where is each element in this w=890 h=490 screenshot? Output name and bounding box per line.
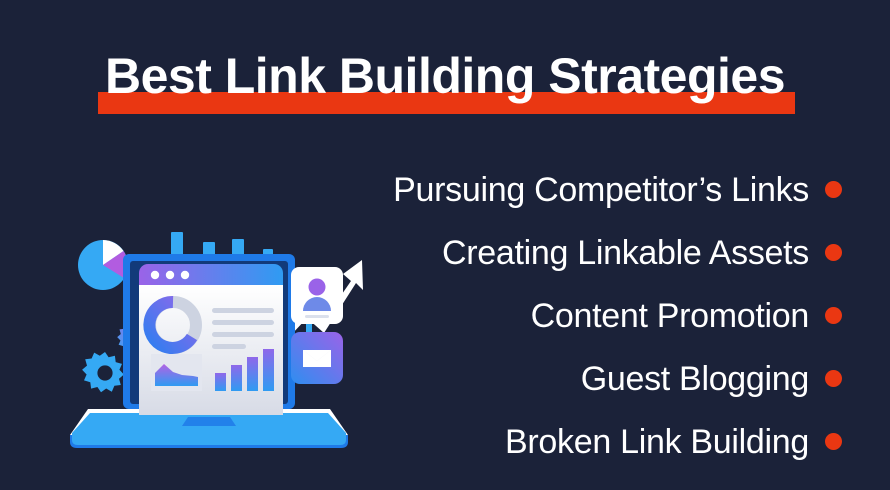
bullet-dot-icon xyxy=(825,181,842,198)
page-title: Best Link Building Strategies xyxy=(0,44,890,108)
strategy-label: Pursuing Competitor’s Links xyxy=(393,173,809,207)
strategy-label: Guest Blogging xyxy=(581,362,809,396)
bullet-dot-icon xyxy=(825,244,842,261)
strategy-label: Creating Linkable Assets xyxy=(442,236,809,270)
bullet-dot-icon xyxy=(825,433,842,450)
window-dots-icon xyxy=(151,271,189,279)
pie-chart-icon xyxy=(78,240,128,290)
gear-large-icon xyxy=(82,352,124,392)
title-block: Best Link Building Strategies xyxy=(0,44,890,122)
bullet-dot-icon xyxy=(825,307,842,324)
analytics-dashboard-illustration xyxy=(60,212,380,460)
bullet-dot-icon xyxy=(825,370,842,387)
email-icon xyxy=(291,332,343,384)
strategy-label: Broken Link Building xyxy=(505,425,809,459)
strategy-label: Content Promotion xyxy=(531,299,809,333)
browser-window xyxy=(139,264,283,415)
profile-card-icon xyxy=(291,267,343,324)
poster-canvas: Best Link Building Strategies Pursuing C… xyxy=(0,0,890,490)
area-chart xyxy=(151,354,202,391)
